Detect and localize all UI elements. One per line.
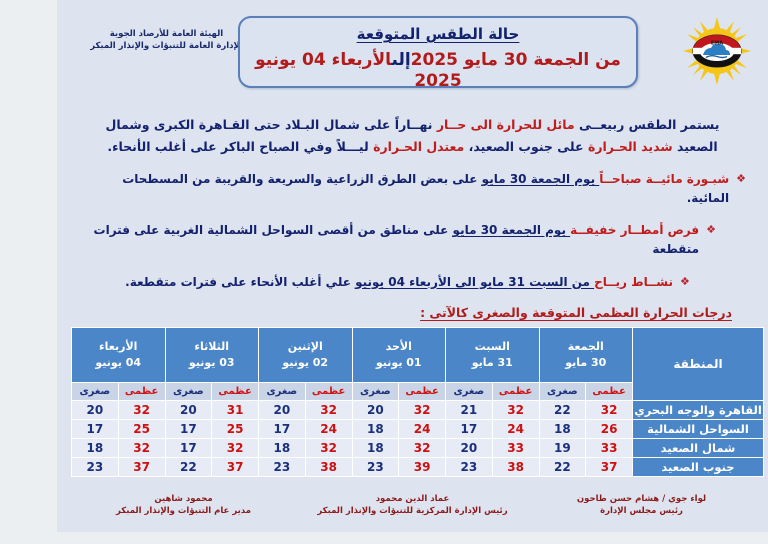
- signature-name: محمود شاهين: [74, 493, 294, 506]
- cell-max: 32: [492, 400, 539, 419]
- day-date: 03 يونيو: [166, 355, 259, 370]
- intro-seg-6: معتدل الحـرارة: [373, 139, 464, 154]
- signature-footer: لواء جوي / هشام حسن طاحون رئيس مجلس الإد…: [57, 493, 768, 519]
- cell-max: 32: [586, 400, 633, 419]
- day-name: الثلاثاء: [166, 339, 259, 354]
- column-header-day-2: الأحد 01 يونيو: [352, 327, 446, 382]
- cell-min: 17: [165, 438, 212, 457]
- day-date: 01 يونيو: [353, 355, 446, 370]
- cell-min: 18: [352, 438, 399, 457]
- signature-block: عماد الدين محمود رئيس الإدارة المركزية ل…: [303, 493, 523, 519]
- signature-title: رئيس مجلس الإدارة: [532, 505, 752, 518]
- diamond-bullet-icon: ❖: [706, 221, 716, 239]
- cell-min: 21: [446, 400, 493, 419]
- cell-min: 17: [72, 419, 119, 438]
- cell-max: 24: [492, 419, 539, 438]
- cell-max: 32: [118, 400, 165, 419]
- list-item: ❖ فرص أمطــار خفيفــة يوم الجمعة 30 مايو…: [79, 221, 746, 259]
- cell-min: 17: [165, 419, 212, 438]
- table-header-row-days: المنطقة الجمعة 30 مايو السبت 31 مايو الأ…: [72, 327, 764, 382]
- cell-min: 20: [259, 400, 306, 419]
- date-range-connector: إلى: [392, 50, 411, 70]
- diamond-bullet-icon: ❖: [680, 273, 690, 291]
- cell-max: 33: [586, 438, 633, 457]
- list-item: ❖ شبـورة مائيــة صباحــاً يوم الجمعة 30 …: [79, 170, 746, 208]
- table-row: جنوب الصعيد 37 22 38 23 39 23 38 23 37 2…: [72, 457, 764, 476]
- signature-title: رئيس الإدارة المركزية للتنبؤات والإنذار …: [303, 505, 523, 518]
- agency-line-2: الإدارة العامة للتنبؤات والإنذار المبكر: [79, 40, 254, 52]
- cell-min: 23: [72, 457, 119, 476]
- cell-max: 37: [118, 457, 165, 476]
- day-date: 02 يونيو: [259, 355, 352, 370]
- cell-max: 32: [399, 400, 446, 419]
- cell-max: 26: [586, 419, 633, 438]
- day-date: 30 مايو: [540, 355, 633, 370]
- cell-max: 39: [399, 457, 446, 476]
- subheader-min-1: صغرى: [446, 382, 493, 400]
- cell-max: 38: [492, 457, 539, 476]
- cell-min: 20: [446, 438, 493, 457]
- region-label: القاهرة والوجه البحري: [633, 400, 764, 419]
- day-name: الجمعة: [540, 339, 633, 354]
- subheader-min-5: صغرى: [72, 382, 119, 400]
- signature-block: لواء جوي / هشام حسن طاحون رئيس مجلس الإد…: [532, 493, 752, 519]
- document-page: EMA الهيئة العامة للأرصاد الجوية الإدارة…: [57, 0, 768, 532]
- cell-min: 22: [539, 457, 586, 476]
- cell-min: 23: [352, 457, 399, 476]
- cell-min: 17: [259, 419, 306, 438]
- subheader-max-0: عظمى: [586, 382, 633, 400]
- intro-seg-1: يستمر الطقس ربيعــى: [575, 117, 720, 132]
- cell-max: 32: [118, 438, 165, 457]
- page-title: حالة الطقس المتوقعة: [240, 25, 636, 43]
- subheader-max-1: عظمى: [492, 382, 539, 400]
- intro-seg-7: ليـــلاً وفي الصباح الباكر على أغلب الأن…: [107, 139, 373, 154]
- title-box: حالة الطقس المتوقعة من الجمعة 30 مايو 20…: [238, 16, 638, 88]
- bullet-phenomenon: نشــاط ريــاح: [594, 275, 673, 289]
- cell-max: 32: [305, 438, 352, 457]
- cell-min: 18: [539, 419, 586, 438]
- region-label: جنوب الصعيد: [633, 457, 764, 476]
- bullet-date: يوم الجمعة 30 مايو: [453, 223, 571, 237]
- column-header-day-5: الأربعاء 04 يونيو: [72, 327, 166, 382]
- day-date: 31 مايو: [446, 355, 539, 370]
- subheader-max-5: عظمى: [118, 382, 165, 400]
- cell-min: 23: [446, 457, 493, 476]
- cell-max: 24: [399, 419, 446, 438]
- cell-min: 20: [165, 400, 212, 419]
- cell-min: 19: [539, 438, 586, 457]
- column-header-day-3: الإثنين 02 يونيو: [259, 327, 353, 382]
- list-item: ❖ نشــاط ريــاح من السبت 31 مايو الى الأ…: [79, 273, 746, 292]
- signature-title: مدير عام التنبؤات والإنذار المبكر: [74, 505, 294, 518]
- temperature-table-caption: درجات الحرارة العظمى المتوقعة والصغرى كا…: [57, 305, 732, 320]
- intro-seg-4: شديد الحـرارة: [588, 139, 673, 154]
- intro-seg-2: مائل للحرارة الى حــار: [437, 117, 575, 132]
- temperature-table-wrapper: المنطقة الجمعة 30 مايو السبت 31 مايو الأ…: [71, 327, 764, 477]
- cell-max: 37: [212, 457, 259, 476]
- cell-min: 22: [539, 400, 586, 419]
- cell-min: 18: [72, 438, 119, 457]
- bullet-date: من السبت 31 مايو الى الأربعاء 04 يونيو: [355, 275, 594, 289]
- temperature-table: المنطقة الجمعة 30 مايو السبت 31 مايو الأ…: [71, 327, 764, 477]
- subheader-max-3: عظمى: [305, 382, 352, 400]
- document-header: EMA الهيئة العامة للأرصاد الجوية الإدارة…: [57, 0, 768, 100]
- table-row: شمال الصعيد 33 19 33 20 32 18 32 18 32 1…: [72, 438, 764, 457]
- bullet-text: شبـورة مائيــة صباحــاً يوم الجمعة 30 ما…: [79, 170, 729, 208]
- signature-block: محمود شاهين مدير عام التنبؤات والإنذار ا…: [74, 493, 294, 519]
- bullet-phenomenon: شبـورة مائيــة صباحــاً: [599, 172, 729, 186]
- day-name: الأربعاء: [72, 339, 165, 354]
- cell-max: 33: [492, 438, 539, 457]
- column-header-day-4: الثلاثاء 03 يونيو: [165, 327, 259, 382]
- region-label: السواحل الشمالية: [633, 419, 764, 438]
- cell-max: 32: [212, 438, 259, 457]
- table-row: السواحل الشمالية 26 18 24 17 24 18 24 17…: [72, 419, 764, 438]
- date-range-subtitle: من الجمعة 30 مايو 2025إلىالأربعاء 04 يون…: [240, 50, 636, 93]
- forecast-summary-paragraph: يستمر الطقس ربيعــى مائل للحرارة الى حــ…: [85, 114, 740, 158]
- cell-max: 25: [212, 419, 259, 438]
- signature-name: عماد الدين محمود: [303, 493, 523, 506]
- cell-max: 25: [118, 419, 165, 438]
- warnings-list: ❖ شبـورة مائيــة صباحــاً يوم الجمعة 30 …: [79, 170, 746, 292]
- cell-min: 20: [72, 400, 119, 419]
- cell-min: 18: [352, 419, 399, 438]
- cell-max: 38: [305, 457, 352, 476]
- bullet-phenomenon: فرص أمطــار خفيفــة: [570, 223, 699, 237]
- date-range-start: من الجمعة 30 مايو 2025: [411, 50, 621, 70]
- day-name: الأحد: [353, 339, 446, 354]
- table-row: القاهرة والوجه البحري 32 22 32 21 32 20 …: [72, 400, 764, 419]
- bullet-detail: علي أغلب الأنحاء على فترات متقطعة.: [125, 275, 355, 289]
- cell-max: 37: [586, 457, 633, 476]
- subheader-max-2: عظمى: [399, 382, 446, 400]
- bullet-text: نشــاط ريــاح من السبت 31 مايو الى الأرب…: [125, 273, 673, 292]
- diamond-bullet-icon: ❖: [736, 170, 746, 188]
- ema-logo-icon: EMA: [669, 16, 765, 86]
- subheader-max-4: عظمى: [212, 382, 259, 400]
- agency-name: الهيئة العامة للأرصاد الجوية الإدارة الع…: [79, 28, 254, 53]
- cell-min: 23: [259, 457, 306, 476]
- cell-min: 17: [446, 419, 493, 438]
- svg-text:EMA: EMA: [711, 41, 723, 47]
- day-date: 04 يونيو: [72, 355, 165, 370]
- intro-seg-5: على جنوب الصعيد،: [464, 139, 588, 154]
- bullet-date: يوم الجمعة 30 مايو: [482, 172, 600, 186]
- subheader-min-0: صغرى: [539, 382, 586, 400]
- cell-min: 22: [165, 457, 212, 476]
- cell-min: 18: [259, 438, 306, 457]
- day-name: الإثنين: [259, 339, 352, 354]
- subheader-min-2: صغرى: [352, 382, 399, 400]
- column-header-region: المنطقة: [633, 327, 764, 400]
- agency-line-1: الهيئة العامة للأرصاد الجوية: [79, 28, 254, 40]
- region-label: شمال الصعيد: [633, 438, 764, 457]
- column-header-day-1: السبت 31 مايو: [446, 327, 540, 382]
- cell-max: 24: [305, 419, 352, 438]
- subheader-min-4: صغرى: [165, 382, 212, 400]
- signature-name: لواء جوي / هشام حسن طاحون: [532, 493, 752, 506]
- day-name: السبت: [446, 339, 539, 354]
- cell-min: 20: [352, 400, 399, 419]
- column-header-day-0: الجمعة 30 مايو: [539, 327, 633, 382]
- cell-max: 31: [212, 400, 259, 419]
- cell-max: 32: [305, 400, 352, 419]
- subheader-min-3: صغرى: [259, 382, 306, 400]
- cell-max: 32: [399, 438, 446, 457]
- bullet-text: فرص أمطــار خفيفــة يوم الجمعة 30 مايو ع…: [79, 221, 699, 259]
